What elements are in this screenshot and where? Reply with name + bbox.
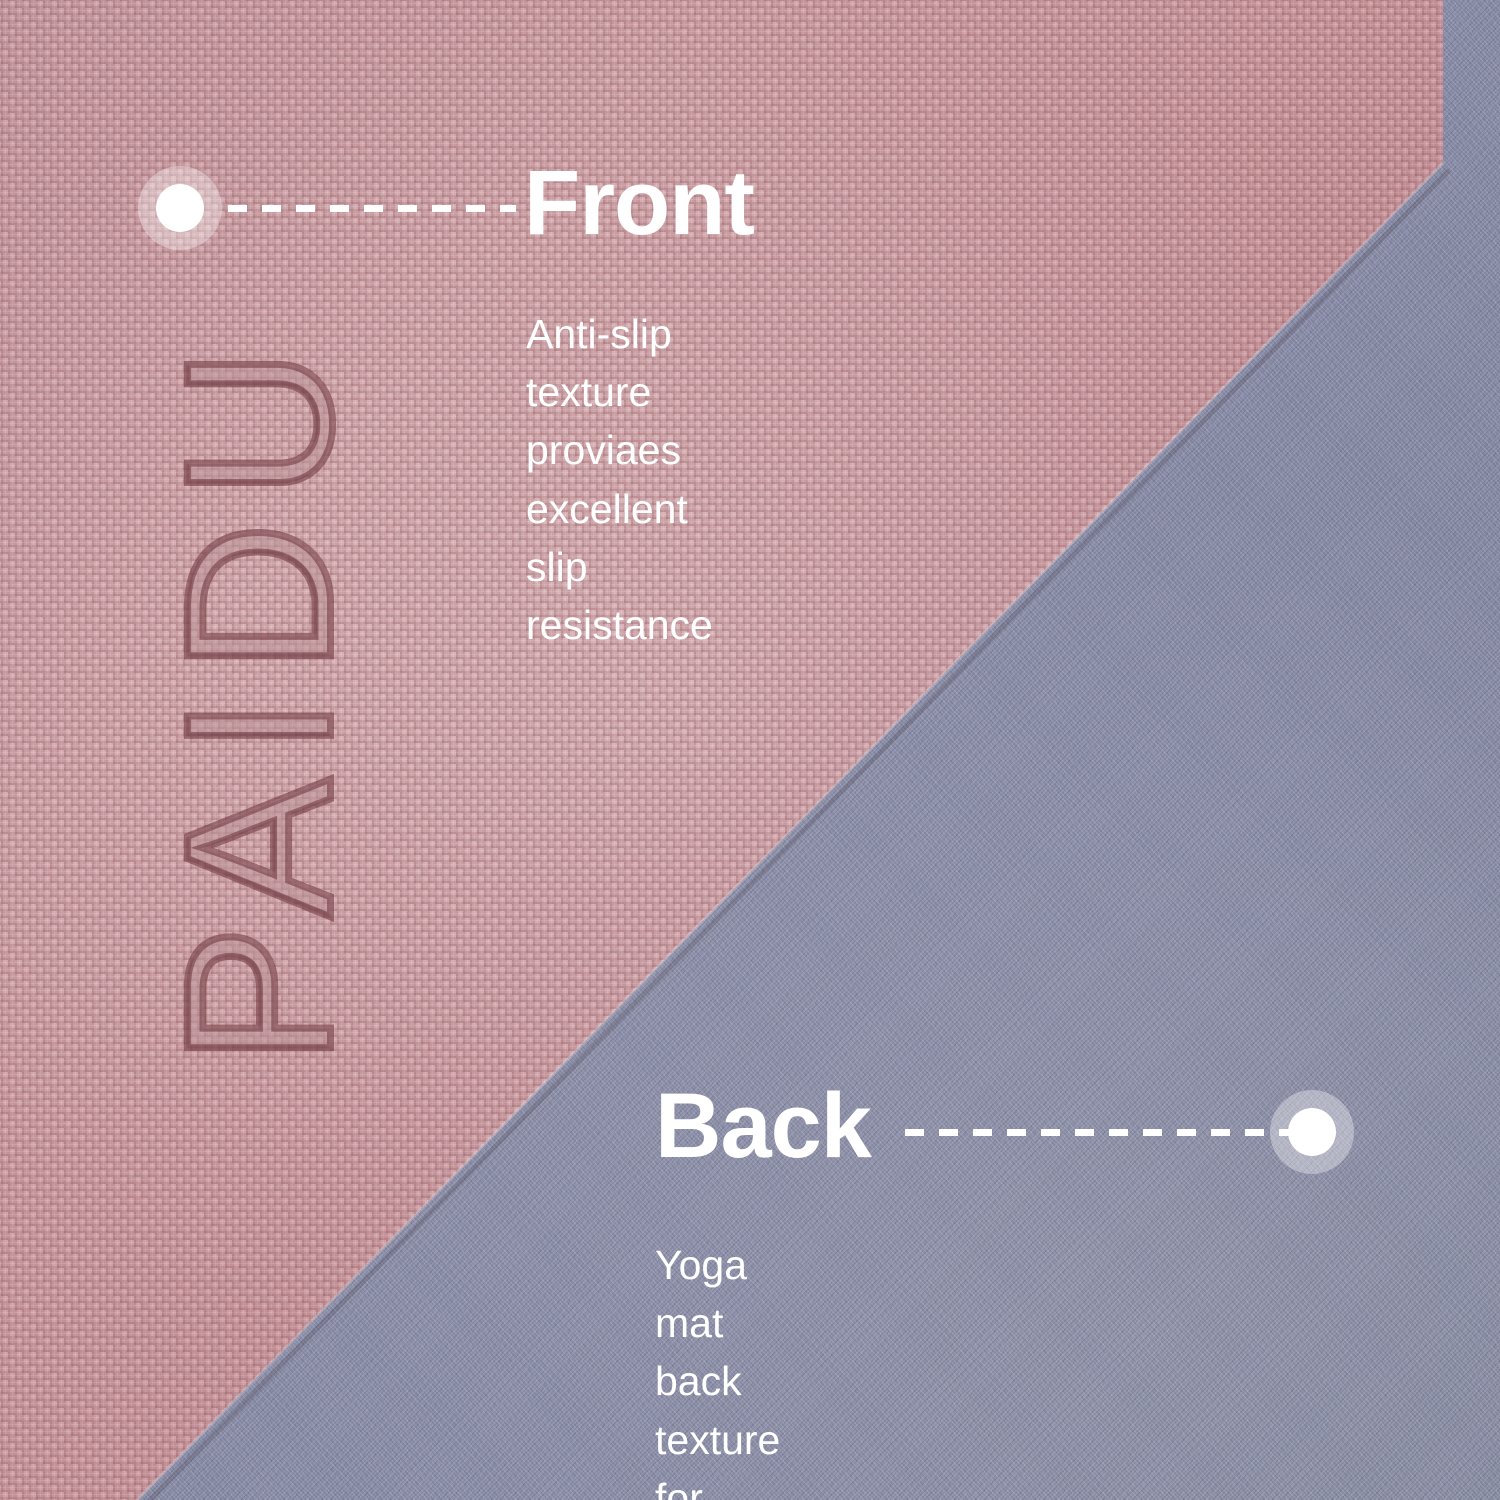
marker-dot-back bbox=[1270, 1090, 1354, 1174]
marker-dot-front bbox=[138, 166, 222, 250]
callout-back-description: Yoga mat back texture for better grip bbox=[655, 1236, 780, 1500]
connector-line-front bbox=[228, 205, 516, 212]
callout-front-description: Anti-slip texture proviaes excellent sli… bbox=[526, 305, 713, 654]
product-detail-image: PAIDU Front Anti-slip texture proviaes e… bbox=[0, 0, 1500, 1500]
callout-back-heading: Back bbox=[655, 1080, 871, 1172]
connector-line-back bbox=[905, 1129, 1293, 1136]
callout-front-heading: Front bbox=[524, 157, 754, 249]
